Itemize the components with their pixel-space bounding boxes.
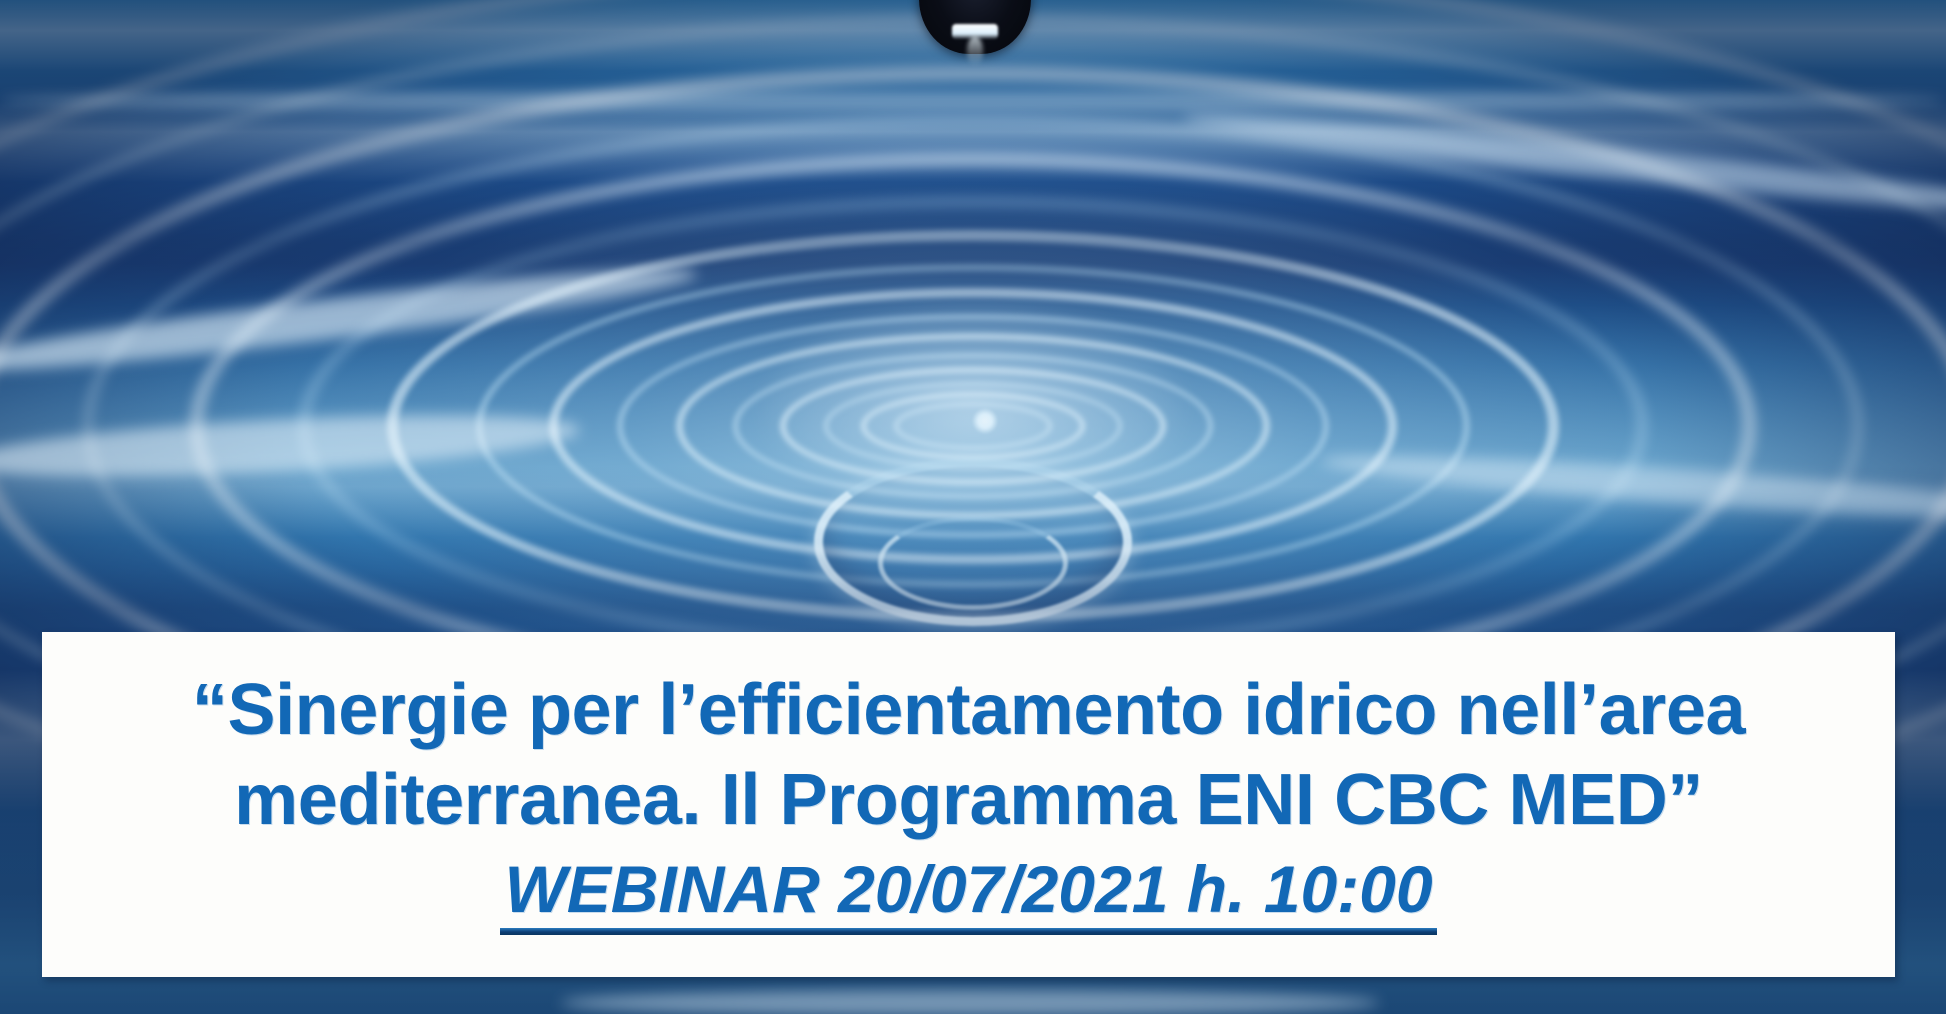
caption-panel: “Sinergie per l’efficientamento idrico n… — [42, 632, 1895, 977]
webinar-underline — [500, 928, 1436, 935]
droplet-trail — [967, 36, 983, 66]
event-title-line-1: “Sinergie per l’efficientamento idrico n… — [192, 666, 1745, 755]
event-title-line-2: mediterranea. Il Programma ENI CBC MED” — [234, 756, 1703, 845]
webinar-datetime-text: WEBINAR 20/07/2021 h. 10:00 — [504, 852, 1432, 926]
webinar-datetime: WEBINAR 20/07/2021 h. 10:00 — [504, 851, 1432, 935]
webinar-poster: “Sinergie per l’efficientamento idrico n… — [0, 0, 1946, 1014]
